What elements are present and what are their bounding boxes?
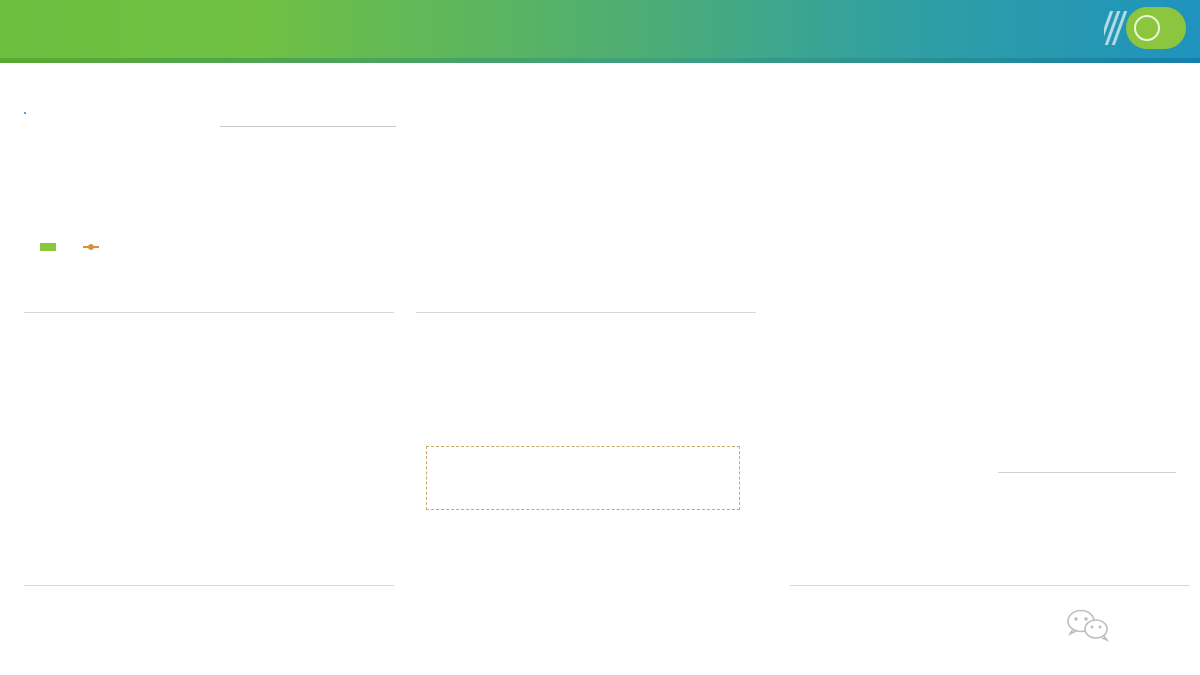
line-swatch-icon [83,246,99,248]
header-underline [0,58,1200,63]
chart-stock-market-share [416,112,756,337]
slide-header [0,0,1200,58]
wechat-icon [1066,608,1112,642]
chart-replacement-cycle [24,400,394,615]
chart1-axis [24,312,394,313]
chart2-axis [416,312,756,313]
chart-monthly-new-terminals [24,112,394,332]
chart1-legend-bar [40,243,61,251]
section-badge[interactable] [1126,7,1186,49]
watermark [1066,608,1118,642]
chart4-axis [24,585,394,586]
chart1-legend [40,243,104,251]
chart1-line-series [24,112,394,312]
stripes-icon [1104,11,1130,45]
chart6-leader-line [790,400,1190,615]
badge-number [1134,15,1160,41]
bar-swatch-icon [40,243,56,251]
chart1-legend-line [83,246,104,248]
chart-share-growth-ranking [790,112,1190,362]
table-highlight-box [426,446,740,510]
slide-page [0,0,1200,675]
chart6-annotation-rule [998,472,1176,473]
chart-brand-loyalty [790,400,1190,615]
